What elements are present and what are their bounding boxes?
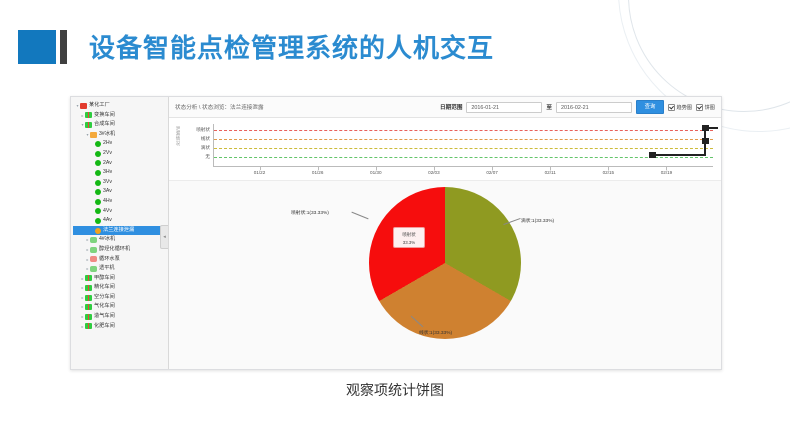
sidebar-item-label: 醇烃化循环机	[99, 245, 130, 255]
factory-icon	[80, 103, 87, 109]
date-to-input[interactable]: 2016-02-21	[556, 102, 632, 113]
sidebar-item-20[interactable]: ▸空分车间	[73, 293, 168, 303]
sidebar-item-13[interactable]: 法兰连接泄漏	[73, 226, 168, 236]
sidebar-item-label: 法兰连接泄漏	[103, 226, 134, 236]
dot-icon	[95, 170, 101, 176]
checkbox-pie-label: 饼图	[705, 104, 715, 111]
pie-tooltip-percent: 33.3%	[394, 239, 424, 247]
sidebar-item-5[interactable]: 2Vv	[73, 149, 168, 159]
trend-x-tick-4: 02/07	[486, 170, 498, 175]
sidebar-item-3[interactable]: ▾3#冰机	[73, 130, 168, 140]
sidebar-item-10[interactable]: 4Hv	[73, 197, 168, 207]
trend-y-tick-2: 滴状	[184, 143, 210, 152]
trend-y-axis-labels: 喷射状线状滴状无	[184, 125, 210, 161]
sidebar-item-label: 3#冰机	[99, 130, 115, 140]
trend-x-tick-0: 01/22	[254, 170, 266, 175]
sidebar-item-18[interactable]: ▸甲醇车间	[73, 274, 168, 284]
pie-label-didi: 滴状:1(33.33%)	[521, 217, 554, 224]
toolbar-right-group: 日期范围 2016-01-21 至 2016-02-21 查询 趋势图 饼图	[440, 100, 715, 114]
trend-y-tick-0: 喷射状	[184, 125, 210, 134]
pie-label-penshe: 喷射状:1(33.33%)	[291, 209, 329, 216]
folder-icon	[90, 132, 97, 138]
sidebar-item-19[interactable]: ▸精化车间	[73, 283, 168, 293]
pie-chart: 滴状:1(33.33%) 线状:1(33.33%) 喷射状:1(33.33%) …	[169, 181, 721, 369]
grid-icon	[85, 314, 92, 320]
sidebar-item-label: 空分车间	[94, 293, 115, 303]
trend-y-tick-3: 无	[184, 152, 210, 161]
sidebar-item-23[interactable]: ▸化肥车间	[73, 322, 168, 332]
sidebar-item-label: 2Av	[103, 159, 112, 169]
breadcrumb: 状态分析 \ 状态浏览：法兰连接泄露	[175, 103, 264, 111]
pie-tooltip: 喷射状 33.3%	[393, 227, 425, 248]
pill-green-icon	[90, 266, 97, 272]
application-window: ▾某化工厂▸变换车间▾合成车间▾3#冰机2Hv2Vv2Av3Hv3Vv3Av4H…	[70, 96, 722, 370]
sidebar-item-15[interactable]: ▸醇烃化循环机	[73, 245, 168, 255]
sidebar-item-2[interactable]: ▾合成车间	[73, 120, 168, 130]
trend-x-tick-6: 02/15	[603, 170, 615, 175]
dot-icon	[95, 208, 101, 214]
sidebar-item-label: 合成车间	[94, 120, 115, 130]
dot-icon	[95, 151, 101, 157]
title-bar-marker	[60, 30, 67, 64]
checkbox-trend-box[interactable]	[668, 104, 675, 111]
pill-green-icon	[90, 247, 97, 253]
sidebar-item-label: 某化工厂	[89, 101, 110, 111]
sidebar-item-label: 造气车间	[94, 312, 115, 322]
trend-x-tick-7: 02/19	[661, 170, 673, 175]
grid-icon	[85, 275, 92, 281]
checkbox-pie-chart[interactable]: 饼图	[696, 104, 715, 111]
grid-icon	[85, 122, 92, 128]
trend-x-tick-2: 01/30	[370, 170, 382, 175]
pill-green-icon	[90, 237, 97, 243]
grid-icon	[85, 295, 92, 301]
grid-icon	[85, 304, 92, 310]
sidebar-item-label: 气化车间	[94, 302, 115, 312]
sidebar-item-14[interactable]: ▸4#冰机	[73, 235, 168, 245]
sidebar-item-label: 4Vv	[103, 207, 112, 217]
title-square-marker	[18, 30, 56, 64]
sidebar-item-6[interactable]: 2Av	[73, 159, 168, 169]
trend-x-tick-3: 02/03	[428, 170, 440, 175]
sidebar-item-17[interactable]: ▸透平机	[73, 264, 168, 274]
sidebar-item-7[interactable]: 3Hv	[73, 168, 168, 178]
trend-x-tick-5: 02/11	[545, 170, 556, 175]
trend-x-tick-1: 01/26	[312, 170, 324, 175]
pie-tooltip-name: 喷射状	[394, 231, 424, 239]
checkbox-trend-chart[interactable]: 趋势图	[668, 104, 692, 111]
sidebar-item-label: 甲醇车间	[94, 274, 115, 284]
dot-icon	[95, 160, 101, 166]
sidebar-item-4[interactable]: 2Hv	[73, 139, 168, 149]
trend-y-axis-title: 泄漏情况	[174, 126, 182, 146]
sidebar-item-label: 3Hv	[103, 168, 112, 178]
trend-step-series	[213, 124, 722, 166]
sidebar-item-label: 2Hv	[103, 139, 112, 149]
sidebar-item-label: 3Vv	[103, 178, 112, 188]
dot-icon	[95, 218, 101, 224]
pill-red-icon	[90, 256, 97, 262]
date-from-input[interactable]: 2016-01-21	[466, 102, 542, 113]
grid-icon	[85, 285, 92, 291]
dot-icon	[95, 189, 101, 195]
checkbox-pie-box[interactable]	[696, 104, 703, 111]
dot-icon	[95, 141, 101, 147]
sidebar-item-label: 4Hv	[103, 197, 112, 207]
grid-icon	[85, 323, 92, 329]
sidebar-item-label: 精化车间	[94, 283, 115, 293]
checkbox-trend-label: 趋势图	[677, 104, 693, 111]
pie-disc[interactable]	[369, 187, 521, 339]
main-content-panel: 状态分析 \ 状态浏览：法兰连接泄露 日期范围 2016-01-21 至 201…	[169, 97, 721, 369]
sidebar-item-label: 化肥车间	[94, 322, 115, 332]
sidebar-item-label: 2Vv	[103, 149, 112, 159]
content-toolbar: 状态分析 \ 状态浏览：法兰连接泄露 日期范围 2016-01-21 至 201…	[169, 97, 721, 118]
sidebar-item-label: 变换车间	[94, 111, 115, 121]
equipment-tree-sidebar[interactable]: ▾某化工厂▸变换车间▾合成车间▾3#冰机2Hv2Vv2Av3Hv3Vv3Av4H…	[71, 97, 169, 369]
sidebar-item-21[interactable]: ▸气化车间	[73, 302, 168, 312]
sidebar-item-0[interactable]: ▾某化工厂	[73, 101, 168, 111]
sidebar-item-label: 4#冰机	[99, 235, 115, 245]
date-to-label: 至	[546, 103, 552, 111]
sidebar-item-label: 4Av	[103, 216, 112, 226]
trend-y-tick-1: 线状	[184, 134, 210, 143]
dot-icon	[95, 180, 101, 186]
trend-chart: 泄漏情况 喷射状线状滴状无 01/2201/2601/3002/0302/070…	[169, 118, 721, 181]
dot-icon	[95, 199, 101, 205]
sidebar-item-8[interactable]: 3Vv	[73, 178, 168, 188]
pie-label-xianzhuang: 线状:1(33.33%)	[419, 329, 452, 336]
query-button[interactable]: 查询	[636, 100, 664, 114]
sidebar-item-12[interactable]: 4Av	[73, 216, 168, 226]
sidebar-item-16[interactable]: ▸循环水泵	[73, 255, 168, 265]
slide-title-row: 设备智能点检管理系统的人机交互	[18, 28, 494, 65]
pie-leader-line-left	[351, 212, 368, 220]
sidebar-item-9[interactable]: 3Av	[73, 187, 168, 197]
page-title: 设备智能点检管理系统的人机交互	[89, 28, 494, 65]
figure-caption: 观察项统计饼图	[0, 380, 790, 400]
grid-icon	[85, 112, 92, 118]
sidebar-item-label: 3Av	[103, 187, 112, 197]
sidebar-item-11[interactable]: 4Vv	[73, 207, 168, 217]
target-icon	[95, 228, 101, 234]
sidebar-item-1[interactable]: ▸变换车间	[73, 111, 168, 121]
sidebar-collapse-handle[interactable]: ◂	[160, 225, 169, 249]
sidebar-item-22[interactable]: ▸造气车间	[73, 312, 168, 322]
sidebar-item-label: 循环水泵	[99, 255, 120, 265]
sidebar-item-label: 透平机	[99, 264, 115, 274]
trend-x-axis-ticks: 01/2201/2601/3002/0302/0702/1102/1502/19	[213, 166, 713, 178]
date-range-label: 日期范围	[440, 103, 462, 111]
